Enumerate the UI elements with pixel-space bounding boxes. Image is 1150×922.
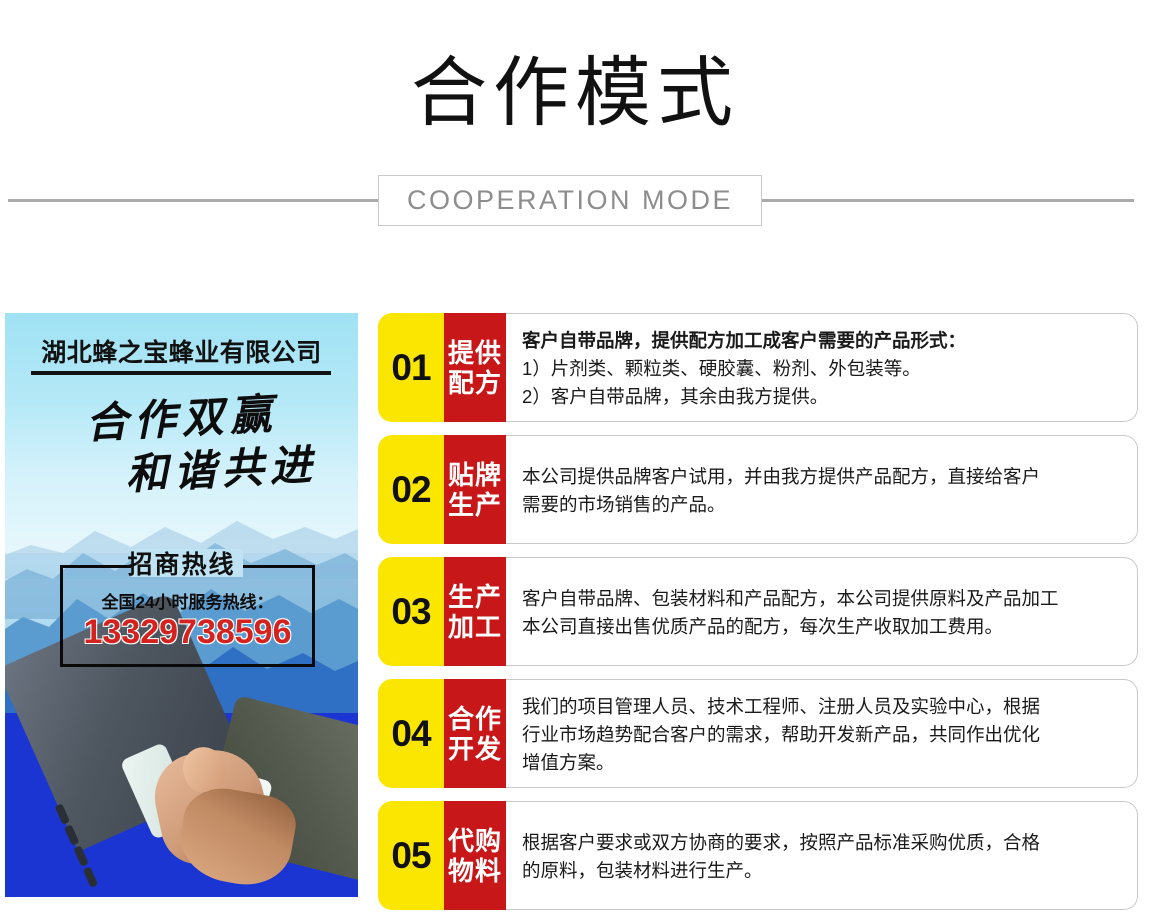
- subtitle-text: COOPERATION MODE: [407, 185, 733, 216]
- promo-image-panel: 湖北蜂之宝蜂业有限公司 合作双赢 和谐共进 招商热线 全国24小时服务热线： 1…: [5, 313, 358, 897]
- mode-description: 根据客户要求或双方协商的要求，按照产品标准采购优质，合格的原料，包装材料进行生产…: [506, 801, 1138, 910]
- mode-description-line: 的原料，包装材料进行生产。: [522, 857, 1119, 885]
- mode-label-line-2: 物料: [448, 856, 502, 886]
- subtitle-box: COOPERATION MODE: [378, 175, 762, 226]
- header-divider-right: [762, 199, 1134, 202]
- mode-label-badge: 贴牌生产: [444, 435, 506, 544]
- page-header: 合作模式 COOPERATION MODE: [0, 0, 1150, 270]
- mode-number-text: 03: [391, 591, 430, 633]
- mode-description: 我们的项目管理人员、技术工程师、注册人员及实验中心，根据行业市场趋势配合客户的需…: [506, 679, 1138, 788]
- mode-label-line-2: 开发: [448, 734, 502, 764]
- mode-description-line: 客户自带品牌，提供配方加工成客户需要的产品形式：: [522, 327, 1119, 355]
- mode-number-badge: 05: [378, 801, 444, 910]
- hotline-subtitle: 全国24小时服务热线：: [60, 588, 315, 613]
- mode-description-line: 根据客户要求或双方协商的要求，按照产品标准采购优质，合格: [522, 829, 1119, 857]
- mode-row: 03生产加工客户自带品牌、包装材料和产品配方，本公司提供原料及产品加工本公司直接…: [378, 557, 1138, 666]
- hotline-title: 招商热线: [5, 545, 358, 581]
- mode-number-badge: 03: [378, 557, 444, 666]
- mode-label-line-2: 配方: [448, 368, 502, 398]
- mode-number-text: 04: [391, 713, 430, 755]
- company-name-underline: [31, 371, 331, 375]
- mode-number-badge: 04: [378, 679, 444, 788]
- mode-label-badge: 生产加工: [444, 557, 506, 666]
- mode-row: 01提供配方客户自带品牌，提供配方加工成客户需要的产品形式：1）片剂类、颗粒类、…: [378, 313, 1138, 422]
- mode-label-line-1: 生产: [448, 582, 502, 612]
- page-title: 合作模式: [0, 48, 1150, 140]
- hotline-phone-number[interactable]: 13329738596: [60, 613, 315, 652]
- mode-number-text: 01: [391, 347, 430, 389]
- mode-number-badge: 01: [378, 313, 444, 422]
- mode-label-badge: 代购物料: [444, 801, 506, 910]
- mode-description-line: 本公司直接出售优质产品的配方，每次生产收取加工费用。: [522, 613, 1119, 641]
- mode-description-line: 我们的项目管理人员、技术工程师、注册人员及实验中心，根据: [522, 693, 1119, 721]
- mode-label-line-1: 代购: [448, 826, 502, 856]
- mode-label-line-1: 提供: [448, 338, 502, 368]
- calligraphy-slogan: 合作双赢 和谐共进: [5, 385, 358, 495]
- mode-number-badge: 02: [378, 435, 444, 544]
- mode-description-line: 客户自带品牌、包装材料和产品配方，本公司提供原料及产品加工: [522, 585, 1119, 613]
- mode-row: 04合作开发我们的项目管理人员、技术工程师、注册人员及实验中心，根据行业市场趋势…: [378, 679, 1138, 788]
- mode-number-text: 02: [391, 469, 430, 511]
- mode-description: 本公司提供品牌客户试用，并由我方提供产品配方，直接给客户需要的市场销售的产品。: [506, 435, 1138, 544]
- mode-description-line: 需要的市场销售的产品。: [522, 491, 1119, 519]
- mode-number-text: 05: [391, 835, 430, 877]
- mode-description: 客户自带品牌、包装材料和产品配方，本公司提供原料及产品加工本公司直接出售优质产品…: [506, 557, 1138, 666]
- mode-description-line: 增值方案。: [522, 749, 1119, 777]
- mode-label-badge: 合作开发: [444, 679, 506, 788]
- mode-label-line-1: 贴牌: [448, 460, 502, 490]
- mode-description: 客户自带品牌，提供配方加工成客户需要的产品形式：1）片剂类、颗粒类、硬胶囊、粉剂…: [506, 313, 1138, 422]
- mode-row: 05代购物料根据客户要求或双方协商的要求，按照产品标准采购优质，合格的原料，包装…: [378, 801, 1138, 910]
- mode-row: 02贴牌生产本公司提供品牌客户试用，并由我方提供产品配方，直接给客户需要的市场销…: [378, 435, 1138, 544]
- mode-description-line: 2）客户自带品牌，其余由我方提供。: [522, 383, 1119, 411]
- handshake-illustration: [5, 643, 358, 897]
- mode-label-line-2: 生产: [448, 490, 502, 520]
- company-name: 湖北蜂之宝蜂业有限公司: [5, 333, 358, 369]
- mode-description-line: 行业市场趋势配合客户的需求，帮助开发新产品，共同作出优化: [522, 721, 1119, 749]
- mode-description-line: 1）片剂类、颗粒类、硬胶囊、粉剂、外包装等。: [522, 355, 1119, 383]
- header-divider-left: [8, 199, 378, 202]
- mode-label-line-1: 合作: [448, 704, 502, 734]
- mode-description-line: 本公司提供品牌客户试用，并由我方提供产品配方，直接给客户: [522, 463, 1119, 491]
- cooperation-mode-list: 01提供配方客户自带品牌，提供配方加工成客户需要的产品形式：1）片剂类、颗粒类、…: [378, 313, 1138, 910]
- mode-label-badge: 提供配方: [444, 313, 506, 422]
- mode-label-line-2: 加工: [448, 612, 502, 642]
